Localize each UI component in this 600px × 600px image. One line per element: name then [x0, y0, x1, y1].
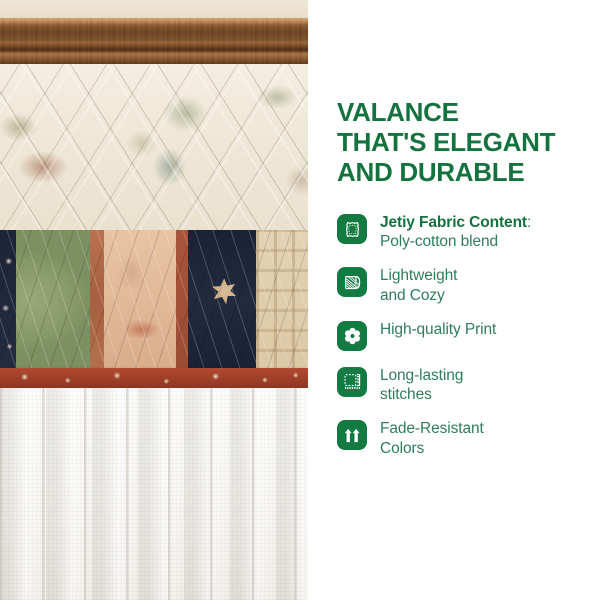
patch-rust-strip-1	[90, 230, 104, 372]
stitched-swatch-icon	[337, 367, 367, 397]
feature-detail: Fade-Resistant Colors	[380, 419, 484, 457]
product-infographic: VALANCE THAT'S ELEGANT AND DURABLE Jetiy…	[0, 0, 600, 600]
feature-lead: Jetiy Fabric Content	[380, 214, 527, 231]
list-item: Long-lasting stitches	[337, 365, 592, 404]
patch-navy-with-flower	[188, 230, 256, 372]
fabric-hide-icon	[337, 214, 367, 244]
list-item-text: Lightweight and Cozy	[380, 265, 457, 304]
list-item: Fade-Resistant Colors	[337, 418, 592, 457]
cream-floral-quilted-panel	[0, 64, 308, 230]
feature-detail: Poly-cotton blend	[380, 232, 531, 251]
patch-navy-floral	[0, 230, 16, 372]
list-item-text: Long-lasting stitches	[380, 365, 463, 404]
patch-tan-plaid	[256, 230, 308, 372]
feature-list: Jetiy Fabric Content: Poly-cotton blend	[337, 212, 592, 458]
white-pleated-curtain	[0, 388, 308, 600]
rolled-blanket-icon	[337, 267, 367, 297]
feature-detail: High-quality Print	[380, 320, 496, 339]
feature-detail: Lightweight and Cozy	[380, 266, 457, 304]
double-up-arrow-icon	[337, 420, 367, 450]
feature-lead-suffix: :	[527, 214, 531, 231]
page-title: VALANCE THAT'S ELEGANT AND DURABLE	[337, 97, 555, 187]
info-panel: VALANCE THAT'S ELEGANT AND DURABLE Jetiy…	[308, 0, 600, 600]
list-item-text: Fade-Resistant Colors	[380, 418, 484, 457]
patch-sage-green	[16, 230, 90, 372]
patchwork-color-block-band	[0, 230, 308, 372]
feature-detail: Long-lasting stitches	[380, 366, 463, 404]
flower-icon	[337, 321, 367, 351]
list-item: High-quality Print	[337, 319, 592, 351]
wall-background	[0, 0, 308, 20]
patch-rust-strip-2	[176, 230, 188, 372]
flower-applique	[211, 278, 237, 304]
list-item-text: High-quality Print	[380, 319, 496, 339]
patch-peach	[104, 230, 176, 372]
list-item-text: Jetiy Fabric Content: Poly-cotton blend	[380, 212, 531, 251]
rust-floral-binding-trim	[0, 368, 308, 388]
product-photo	[0, 0, 308, 600]
list-item: Jetiy Fabric Content: Poly-cotton blend	[337, 212, 592, 251]
wooden-cornice-rod	[0, 18, 308, 64]
list-item: Lightweight and Cozy	[337, 265, 592, 304]
